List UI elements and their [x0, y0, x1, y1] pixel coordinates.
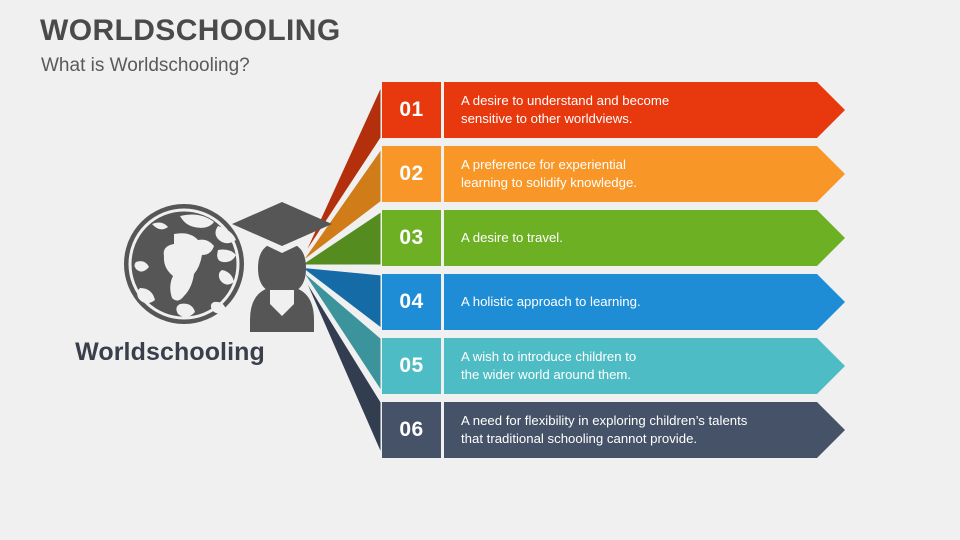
arrow-row[interactable]: 01A desire to understand and becomesensi… — [382, 82, 845, 138]
arrow-row[interactable]: 05A wish to introduce children tothe wid… — [382, 338, 845, 394]
item-number: 01 — [382, 82, 441, 138]
item-text-line2: the wider world around them. — [461, 366, 636, 384]
item-number: 04 — [382, 274, 441, 330]
arrow-row[interactable]: 06A need for flexibility in exploring ch… — [382, 402, 845, 458]
item-text-line1: A preference for experiential — [461, 156, 637, 174]
arrow-shape: 04A holistic approach to learning. — [382, 274, 845, 330]
item-text: A desire to travel. — [444, 210, 845, 266]
slide: WORLDSCHOOLING What is Worldschooling? — [0, 0, 960, 540]
item-number: 02 — [382, 146, 441, 202]
item-text-line1: A need for flexibility in exploring chil… — [461, 412, 747, 430]
arrow-shape: 02A preference for experientiallearning … — [382, 146, 845, 202]
item-text-line1: A desire to understand and become — [461, 92, 669, 110]
arrow-row[interactable]: 04A holistic approach to learning. — [382, 274, 845, 330]
item-text-line2: learning to solidify knowledge. — [461, 174, 637, 192]
arrow-row[interactable]: 02A preference for experientiallearning … — [382, 146, 845, 202]
arrow-shape: 06A need for flexibility in exploring ch… — [382, 402, 845, 458]
item-text-line1: A wish to introduce children to — [461, 348, 636, 366]
item-text: A wish to introduce children tothe wider… — [444, 338, 845, 394]
arrow-row[interactable]: 03A desire to travel. — [382, 210, 845, 266]
arrow-shape: 01A desire to understand and becomesensi… — [382, 82, 845, 138]
item-text-line1: A desire to travel. — [461, 229, 563, 247]
item-text-line2: that traditional schooling cannot provid… — [461, 430, 747, 448]
item-number: 05 — [382, 338, 441, 394]
arrow-shape: 03A desire to travel. — [382, 210, 845, 266]
item-number: 03 — [382, 210, 441, 266]
item-text-line2: sensitive to other worldviews. — [461, 110, 669, 128]
item-number: 06 — [382, 402, 441, 458]
arrow-shape: 05A wish to introduce children tothe wid… — [382, 338, 845, 394]
item-text: A holistic approach to learning. — [444, 274, 845, 330]
arrow-rows: 01A desire to understand and becomesensi… — [0, 0, 960, 540]
item-text: A preference for experientiallearning to… — [444, 146, 845, 202]
item-text: A desire to understand and becomesensiti… — [444, 82, 845, 138]
item-text: A need for flexibility in exploring chil… — [444, 402, 845, 458]
item-text-line1: A holistic approach to learning. — [461, 293, 641, 311]
